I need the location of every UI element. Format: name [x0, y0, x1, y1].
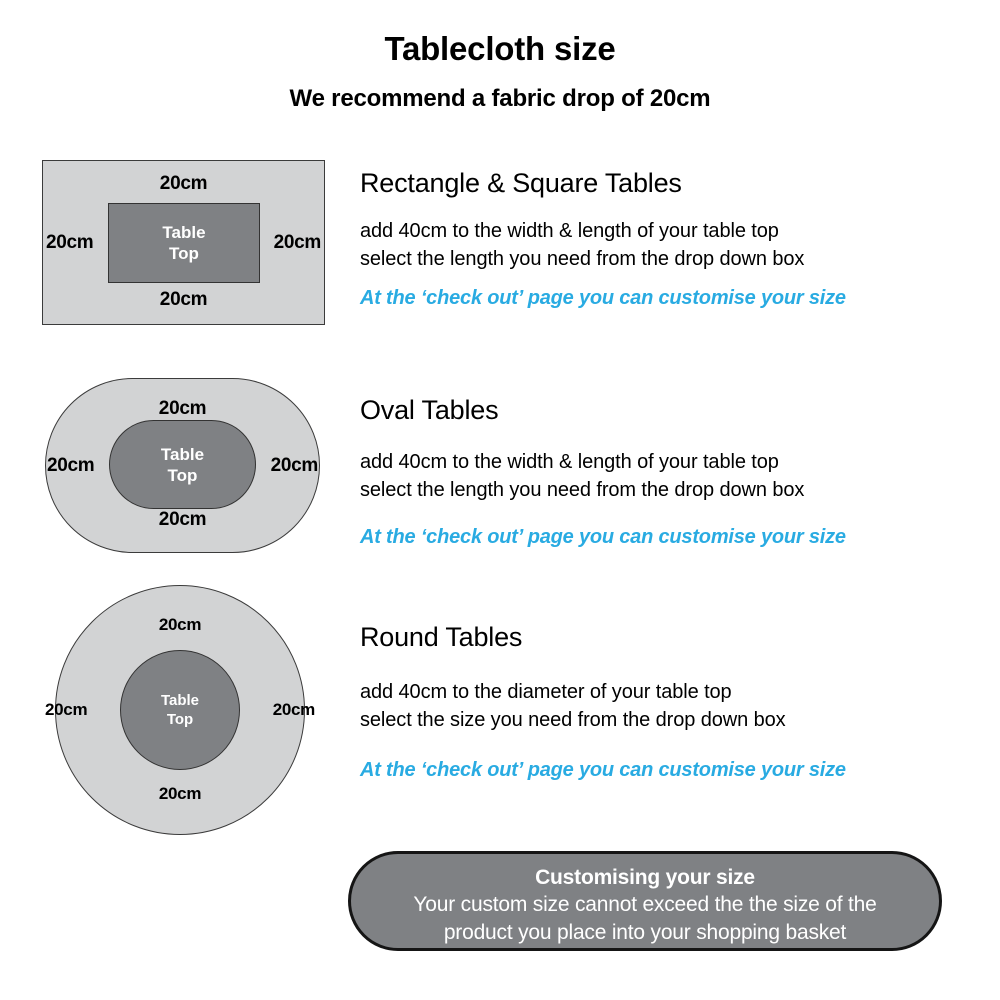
rectangle-instruction-line-1: add 40cm to the width & length of your t…	[360, 217, 980, 245]
round-instruction-line-1: add 40cm to the diameter of your table t…	[360, 678, 980, 706]
rectangle-section-heading: Rectangle & Square Tables	[360, 168, 980, 199]
oval-dimension-bottom: 20cm	[45, 509, 320, 531]
rectangle-instruction-line-2: select the length you need from the drop…	[360, 245, 980, 273]
round-checkout-note: At the ‘check out’ page you can customis…	[360, 759, 980, 782]
customising-your-size-callout: Customising your size Your custom size c…	[348, 851, 942, 951]
round-dimension-top: 20cm	[55, 615, 305, 635]
oval-instruction-line-2: select the length you need from the drop…	[360, 476, 980, 504]
oval-dimension-left: 20cm	[47, 455, 94, 477]
oval-section-text: Oval Tables add 40cm to the width & leng…	[360, 395, 980, 549]
round-section-text: Round Tables add 40cm to the diameter of…	[360, 622, 980, 782]
table-top-label-line2: Top	[167, 710, 193, 729]
round-dimension-right: 20cm	[273, 700, 315, 720]
table-top-label-line2: Top	[169, 243, 199, 264]
round-dimension-left: 20cm	[45, 700, 87, 720]
table-top-label-line2: Top	[168, 465, 198, 486]
round-table-diagram: 20cm 20cm 20cm 20cm Table Top	[55, 585, 305, 835]
table-top-label-line1: Table	[161, 444, 204, 465]
oval-checkout-note: At the ‘check out’ page you can customis…	[360, 526, 980, 549]
table-top-label-line1: Table	[162, 222, 205, 243]
oval-dimension-right: 20cm	[271, 455, 318, 477]
oval-table-top: Table Top	[109, 420, 256, 509]
rectangle-section-body: add 40cm to the width & length of your t…	[360, 217, 980, 273]
rectangle-dimension-bottom: 20cm	[42, 289, 325, 311]
rectangle-dimension-left: 20cm	[46, 232, 93, 254]
round-section-heading: Round Tables	[360, 622, 980, 653]
page-title: Tablecloth size	[0, 30, 1000, 68]
rectangle-table-diagram: 20cm 20cm 20cm 20cm Table Top	[42, 160, 325, 325]
rectangle-table-top: Table Top	[108, 203, 260, 283]
oval-instruction-line-1: add 40cm to the width & length of your t…	[360, 448, 980, 476]
callout-title: Customising your size	[351, 865, 939, 891]
rectangle-dimension-right: 20cm	[274, 232, 321, 254]
callout-line-1: Your custom size cannot exceed the the s…	[351, 891, 939, 919]
oval-section-body: add 40cm to the width & length of your t…	[360, 448, 980, 504]
table-top-label-line1: Table	[161, 691, 199, 710]
oval-dimension-top: 20cm	[45, 398, 320, 420]
callout-line-2: product you place into your shopping bas…	[351, 919, 939, 947]
round-dimension-bottom: 20cm	[55, 784, 305, 804]
rectangle-dimension-top: 20cm	[42, 173, 325, 195]
oval-section-heading: Oval Tables	[360, 395, 980, 426]
round-table-top: Table Top	[120, 650, 240, 770]
oval-table-diagram: 20cm 20cm 20cm 20cm Table Top	[45, 378, 320, 553]
round-instruction-line-2: select the size you need from the drop d…	[360, 706, 980, 734]
rectangle-checkout-note: At the ‘check out’ page you can customis…	[360, 287, 980, 310]
round-section-body: add 40cm to the diameter of your table t…	[360, 678, 980, 734]
rectangle-section-text: Rectangle & Square Tables add 40cm to th…	[360, 168, 980, 310]
page-subtitle: We recommend a fabric drop of 20cm	[0, 85, 1000, 113]
